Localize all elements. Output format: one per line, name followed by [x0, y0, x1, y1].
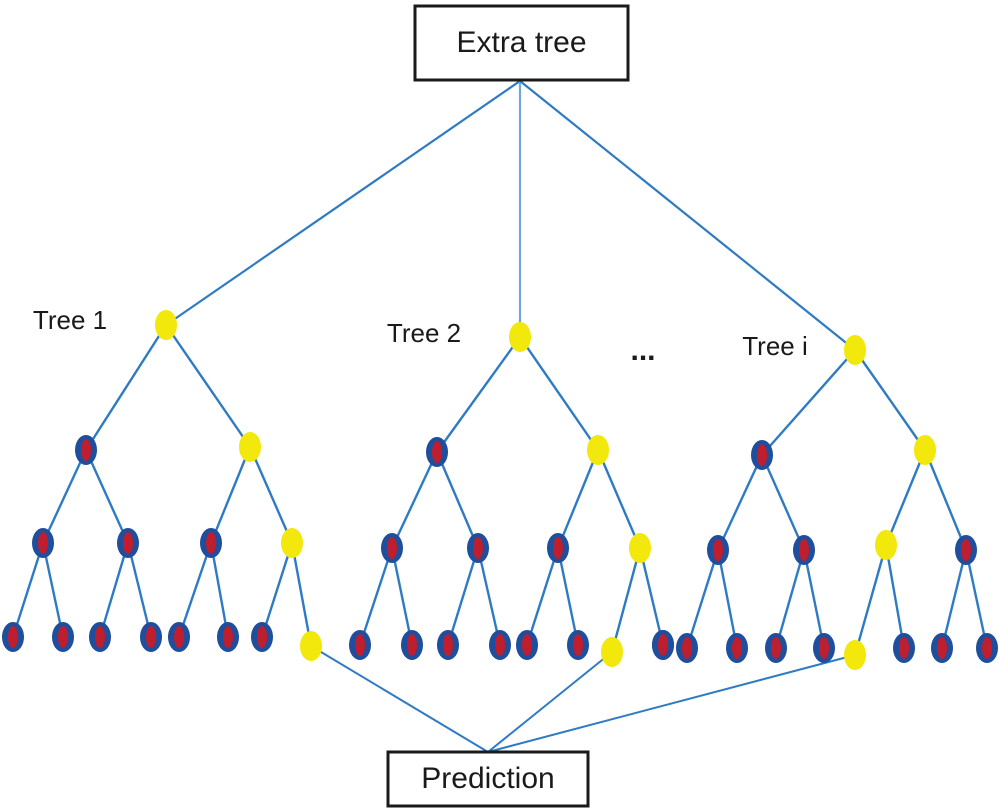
tree-edge: [211, 447, 250, 543]
internal-node[interactable]: [401, 630, 423, 660]
internal-node[interactable]: [251, 622, 273, 652]
internal-node[interactable]: [200, 528, 222, 558]
leaf-ellipse: [239, 432, 261, 462]
node-inner-ellipse: [223, 626, 233, 648]
node-inner-ellipse: [522, 634, 532, 656]
internal-node[interactable]: [75, 435, 97, 465]
ellipsis-label: ...: [630, 334, 655, 367]
tree-label-2: Tree 2: [387, 318, 461, 348]
node-inner-ellipse: [682, 637, 692, 659]
internal-node[interactable]: [547, 533, 569, 563]
internal-node[interactable]: [89, 622, 111, 652]
tree-edge: [166, 325, 250, 447]
extra-tree-box-label: Extra tree: [456, 26, 586, 59]
node-inner-ellipse: [982, 637, 992, 659]
node-inner-ellipse: [553, 537, 563, 559]
leaf-ellipse: [844, 335, 866, 365]
diagram-canvas: Extra tree Prediction Tree 1Tree 2Tree i…: [0, 0, 1000, 812]
tree-edge: [762, 455, 804, 550]
tree-edge: [718, 550, 737, 648]
leaf-node[interactable]: [239, 432, 261, 462]
internal-node[interactable]: [426, 437, 448, 467]
node-inner-ellipse: [8, 626, 18, 648]
node-inner-ellipse: [573, 634, 583, 656]
tree-edge: [392, 452, 437, 548]
internal-node[interactable]: [467, 533, 489, 563]
tree-edge: [855, 545, 886, 655]
tree-edge: [437, 452, 478, 548]
leaf-node[interactable]: [844, 640, 866, 670]
node-inner-ellipse: [355, 634, 365, 656]
leaf-node[interactable]: [875, 530, 897, 560]
prediction-edge-from-tree-i: [488, 655, 855, 752]
tree-edge: [86, 325, 166, 450]
internal-node[interactable]: [117, 528, 139, 558]
internal-node[interactable]: [707, 535, 729, 565]
tree-edge: [886, 545, 904, 648]
internal-node[interactable]: [726, 633, 748, 663]
leaf-node[interactable]: [587, 435, 609, 465]
tree-edge: [179, 543, 211, 637]
internal-node[interactable]: [567, 630, 589, 660]
leaf-node[interactable]: [300, 631, 322, 661]
node-inner-ellipse: [58, 626, 68, 648]
leaf-node[interactable]: [844, 335, 866, 365]
tree-edge: [966, 550, 987, 648]
node-inner-ellipse: [899, 637, 909, 659]
leaf-ellipse: [155, 310, 177, 340]
node-inner-ellipse: [473, 537, 483, 559]
internal-node[interactable]: [349, 630, 371, 660]
node-inner-ellipse: [206, 532, 216, 554]
internal-node[interactable]: [489, 630, 511, 660]
root-edge-to-tree-1: [166, 81, 520, 325]
leaf-node[interactable]: [629, 533, 651, 563]
leaf-node[interactable]: [509, 322, 531, 352]
prediction-edge-from-tree-1: [311, 646, 488, 752]
node-inner-ellipse: [387, 537, 397, 559]
tree-edge: [360, 548, 392, 645]
node-inner-ellipse: [38, 532, 48, 554]
node-inner-ellipse: [95, 626, 105, 648]
tree-edge: [925, 450, 966, 550]
node-inner-ellipse: [146, 626, 156, 648]
tree-edge: [250, 447, 292, 543]
node-inner-ellipse: [174, 626, 184, 648]
internal-node[interactable]: [168, 622, 190, 652]
node-inner-ellipse: [771, 637, 781, 659]
tree-edge: [718, 455, 762, 550]
tree-edge: [292, 543, 311, 646]
root-to-tree-edges: [166, 81, 855, 350]
leaf-node[interactable]: [601, 637, 623, 667]
tree-edge: [13, 543, 43, 637]
root-edge-to-tree-i: [520, 81, 855, 350]
tree-edge: [640, 548, 663, 645]
tree-edge: [262, 543, 292, 637]
tree-edge: [520, 337, 598, 450]
node-inner-ellipse: [961, 539, 971, 561]
leaf-ellipse: [875, 530, 897, 560]
tree-edge: [86, 450, 128, 543]
node-inner-ellipse: [432, 441, 442, 463]
internal-node[interactable]: [381, 533, 403, 563]
tree-edge: [776, 550, 804, 648]
tree-edge: [448, 548, 478, 645]
internal-node[interactable]: [793, 535, 815, 565]
leaf-ellipse: [629, 533, 651, 563]
tree-edge: [478, 548, 500, 645]
internal-node[interactable]: [516, 630, 538, 660]
internal-node[interactable]: [32, 528, 54, 558]
leaf-ellipse: [844, 640, 866, 670]
node-inner-ellipse: [257, 626, 267, 648]
leaf-node[interactable]: [281, 528, 303, 558]
tree-label-1: Tree 1: [33, 305, 107, 335]
tree-edge: [598, 450, 640, 548]
leaf-ellipse: [509, 322, 531, 352]
tree-edge: [558, 548, 578, 645]
internal-node[interactable]: [437, 630, 459, 660]
tree-edge: [612, 548, 640, 652]
internal-node[interactable]: [765, 633, 787, 663]
internal-node[interactable]: [52, 622, 74, 652]
tree-edge: [855, 350, 925, 450]
node-inner-ellipse: [443, 634, 453, 656]
tree-edge: [527, 548, 558, 645]
tree-edge: [687, 550, 718, 648]
leaf-ellipse: [300, 631, 322, 661]
node-inner-ellipse: [495, 634, 505, 656]
internal-node[interactable]: [976, 633, 998, 663]
tree-edge: [437, 337, 520, 452]
leaf-ellipse: [587, 435, 609, 465]
leaf-ellipse: [601, 637, 623, 667]
internal-node[interactable]: [217, 622, 239, 652]
node-inner-ellipse: [407, 634, 417, 656]
internal-node[interactable]: [955, 535, 977, 565]
tree-label-3: Tree i: [742, 331, 808, 361]
tree-edge: [804, 550, 824, 648]
internal-node[interactable]: [893, 633, 915, 663]
node-inner-ellipse: [123, 532, 133, 554]
internal-node[interactable]: [751, 440, 773, 470]
node-inner-ellipse: [757, 444, 767, 466]
tree-edge: [942, 550, 966, 648]
internal-node[interactable]: [931, 633, 953, 663]
node-inner-ellipse: [937, 637, 947, 659]
prediction-box-label: Prediction: [421, 762, 554, 795]
tree-edge: [762, 350, 855, 455]
tree-edge: [886, 450, 925, 545]
leaf-node[interactable]: [155, 310, 177, 340]
tree-edge: [43, 450, 86, 543]
node-inner-ellipse: [799, 539, 809, 561]
prediction-box[interactable]: Prediction: [388, 752, 588, 806]
tree-edge: [558, 450, 598, 548]
leaf-node[interactable]: [914, 435, 936, 465]
extra-tree-box[interactable]: Extra tree: [415, 6, 628, 80]
leaf-ellipse: [281, 528, 303, 558]
internal-node[interactable]: [652, 630, 674, 660]
internal-node[interactable]: [676, 633, 698, 663]
tree-edge: [392, 548, 412, 645]
node-inner-ellipse: [658, 634, 668, 656]
extra-tree-diagram: Extra tree Prediction Tree 1Tree 2Tree i…: [0, 0, 1000, 812]
internal-node[interactable]: [813, 633, 835, 663]
internal-node[interactable]: [2, 622, 24, 652]
tree-branch-edges: [13, 325, 987, 655]
node-inner-ellipse: [819, 637, 829, 659]
node-inner-ellipse: [713, 539, 723, 561]
internal-node[interactable]: [140, 622, 162, 652]
node-inner-ellipse: [732, 637, 742, 659]
tree-edge: [100, 543, 128, 637]
prediction-edge-from-tree-2: [488, 652, 612, 752]
leaf-ellipse: [914, 435, 936, 465]
node-inner-ellipse: [81, 439, 91, 461]
